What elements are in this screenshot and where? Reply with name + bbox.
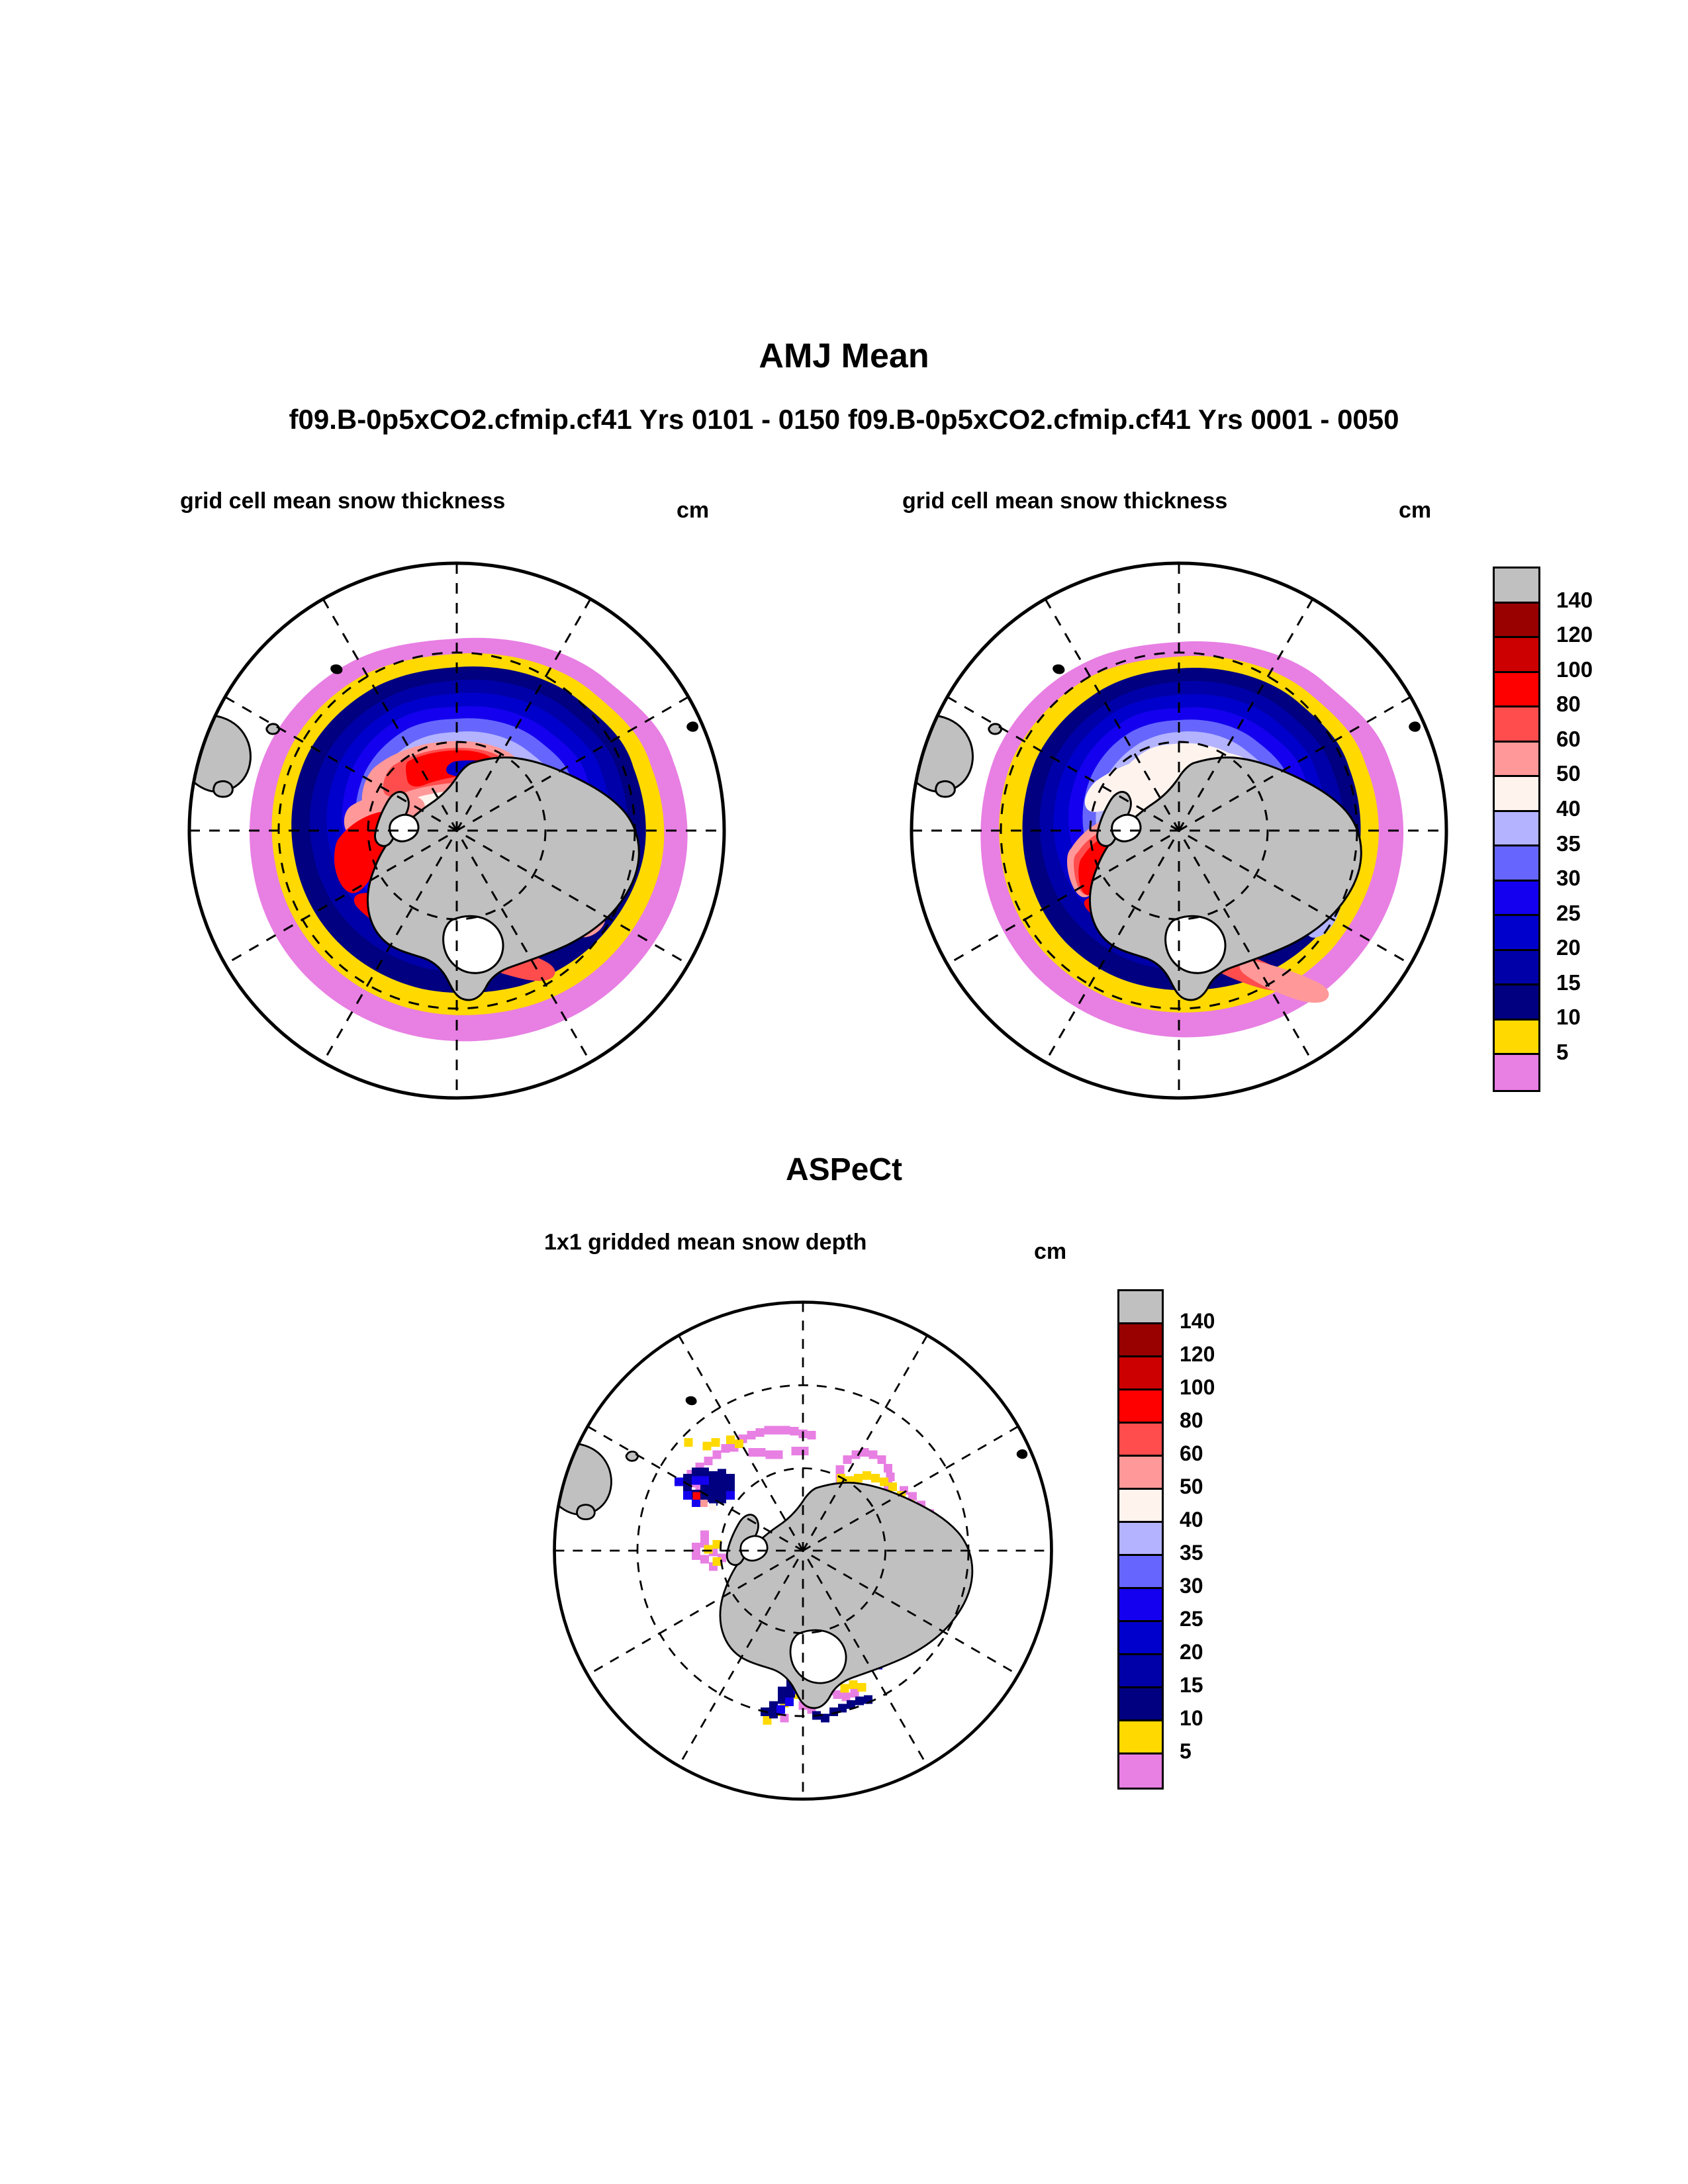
antarctica-landmass [720, 1482, 972, 1708]
colorbar-swatch-100cm [1495, 673, 1538, 708]
filchner-ice-shelf [741, 1536, 767, 1561]
small-island-north [686, 1396, 697, 1406]
polar-map-left [175, 549, 738, 1112]
tierra-del-fuego [936, 781, 955, 797]
colorbar-tick-label-20: 20 [1180, 1640, 1252, 1664]
colorbar-swatch-80cm [1495, 707, 1538, 743]
colorbar-tick-label-5: 5 [1180, 1739, 1252, 1764]
colorbar-tick-label-40: 40 [1556, 796, 1629, 821]
colorbar-tick-label-120: 120 [1556, 622, 1629, 647]
figure-case-line: f09.B-0p5xCO2.cfmip.cf41 Yrs 0101 - 0150… [0, 404, 1688, 435]
south-georgia-island [626, 1451, 637, 1461]
map-panel-left [175, 549, 738, 1112]
colorbar-swatch-5cm [1119, 1754, 1162, 1788]
colorbar-aspect-swatches [1117, 1289, 1164, 1790]
colorbar-tick-label-10: 10 [1180, 1706, 1252, 1731]
colorbar-tick-label-120: 120 [1180, 1342, 1252, 1367]
colorbar-swatch-40cm [1495, 812, 1538, 847]
colorbar-swatch-30cm [1495, 882, 1538, 917]
tierra-del-fuego [577, 1505, 595, 1520]
panel-bottom-units: cm [1034, 1239, 1066, 1265]
colorbar-swatch-30cm [1119, 1589, 1162, 1622]
colorbar-swatch-10cm [1495, 1021, 1538, 1056]
colorbar-swatch-100cm [1119, 1390, 1162, 1424]
small-island-north [330, 664, 342, 674]
colorbar-swatch-over [1495, 569, 1538, 604]
colorbar-tick-label-100: 100 [1180, 1375, 1252, 1400]
colorbar-swatch-120cm [1495, 638, 1538, 673]
colorbar-tick-label-50: 50 [1556, 761, 1629, 786]
colorbar-swatch-over [1119, 1291, 1162, 1324]
colorbar-swatch-50cm [1119, 1490, 1162, 1523]
colorbar-swatch-25cm [1119, 1622, 1162, 1655]
colorbar-tick-label-140: 140 [1180, 1309, 1252, 1334]
south-georgia-island [267, 724, 279, 734]
panel-right-units: cm [1399, 498, 1431, 523]
figure-main-title: AMJ Mean [0, 336, 1688, 376]
colorbar-tick-label-10: 10 [1556, 1005, 1629, 1030]
colorbar-swatch-140cm [1495, 604, 1538, 639]
small-island-east [1409, 721, 1421, 732]
colorbar-tick-label-30: 30 [1556, 866, 1629, 891]
colorbar-tick-label-100: 100 [1556, 657, 1629, 682]
polar-map-aspect [541, 1289, 1064, 1812]
colorbar-tick-label-40: 40 [1180, 1508, 1252, 1532]
panel-bottom-title: 1x1 gridded mean snow depth [544, 1230, 867, 1255]
colorbar-swatch-10cm [1119, 1721, 1162, 1754]
map-panel-bottom [541, 1289, 1064, 1812]
obs-section-title: ASPeCt [0, 1152, 1688, 1188]
colorbar-swatch-20cm [1119, 1655, 1162, 1688]
colorbar-tick-label-15: 15 [1556, 970, 1629, 995]
colorbar-swatch-15cm [1119, 1688, 1162, 1721]
panel-right-title: grid cell mean snow thickness [902, 488, 1227, 514]
colorbar-swatch-5cm [1495, 1055, 1538, 1090]
colorbar-tick-label-35: 35 [1556, 831, 1629, 856]
small-island-east [1017, 1449, 1027, 1459]
panel-left-units: cm [677, 498, 709, 523]
colorbar-aspect: 140120100806050403530252015105 [1117, 1289, 1276, 1792]
small-island-east [686, 721, 698, 732]
colorbar-swatch-35cm [1119, 1556, 1162, 1589]
south-georgia-island [989, 724, 1002, 734]
colorbar-model-swatches [1493, 567, 1540, 1092]
colorbar-tick-label-35: 35 [1180, 1541, 1252, 1565]
small-island-north [1053, 664, 1064, 674]
colorbar-tick-label-30: 30 [1180, 1574, 1252, 1598]
panel-left-title: grid cell mean snow thickness [180, 488, 505, 514]
colorbar-swatch-60cm [1495, 743, 1538, 778]
colorbar-tick-label-80: 80 [1556, 692, 1629, 717]
colorbar-swatch-15cm [1495, 985, 1538, 1021]
colorbar-model: 140120100806050403530252015105 [1493, 567, 1652, 1096]
colorbar-swatch-80cm [1119, 1424, 1162, 1457]
colorbar-tick-label-60: 60 [1556, 727, 1629, 752]
tierra-del-fuego [214, 781, 233, 797]
filchner-ice-shelf [1112, 815, 1141, 841]
colorbar-tick-label-60: 60 [1180, 1441, 1252, 1466]
colorbar-tick-label-50: 50 [1180, 1475, 1252, 1499]
filchner-ice-shelf [390, 815, 418, 841]
colorbar-swatch-35cm [1495, 846, 1538, 882]
map-panel-right [898, 549, 1460, 1112]
colorbar-tick-label-20: 20 [1556, 935, 1629, 960]
colorbar-swatch-50cm [1495, 777, 1538, 812]
colorbar-swatch-20cm [1495, 951, 1538, 986]
colorbar-swatch-25cm [1495, 916, 1538, 951]
colorbar-tick-label-15: 15 [1180, 1673, 1252, 1698]
map-land-layer-bottom [536, 1396, 1028, 1708]
figure-canvas: AMJ Mean f09.B-0p5xCO2.cfmip.cf41 Yrs 01… [0, 0, 1688, 2184]
colorbar-tick-label-5: 5 [1556, 1040, 1629, 1065]
colorbar-tick-label-80: 80 [1180, 1408, 1252, 1433]
colorbar-swatch-60cm [1119, 1457, 1162, 1490]
colorbar-swatch-40cm [1119, 1523, 1162, 1556]
colorbar-tick-label-25: 25 [1556, 901, 1629, 926]
colorbar-swatch-140cm [1119, 1324, 1162, 1357]
colorbar-tick-label-140: 140 [1556, 588, 1629, 613]
polar-map-right [898, 549, 1460, 1112]
colorbar-swatch-120cm [1119, 1357, 1162, 1390]
colorbar-tick-label-25: 25 [1180, 1607, 1252, 1631]
map-graticule-bottom [555, 1302, 1052, 1799]
